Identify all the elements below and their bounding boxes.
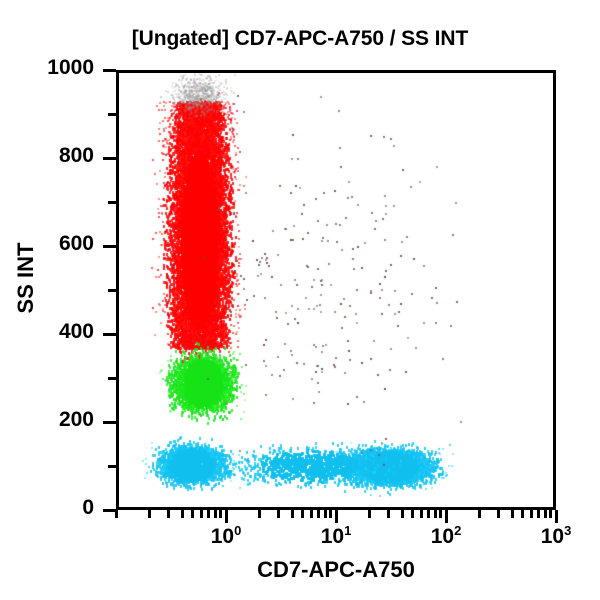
x-axis-tick-minor [219,510,222,518]
x-axis-tick-major [555,510,558,523]
x-axis-tick-minor [521,510,524,518]
x-axis-tick-minor [214,510,217,518]
page-title: [Ungated] CD7-APC-A750 / SS INT [0,27,600,51]
y-axis-tick-label: 1000 [0,56,94,80]
x-axis-tick-minor [537,510,540,518]
y-axis-tick-label: 800 [0,144,94,168]
plot-area[interactable] [116,70,556,510]
y-axis-tick-major [103,333,116,336]
x-axis-tick-major [335,510,338,523]
y-axis-tick-minor [108,465,116,468]
y-axis-tick-label: 200 [0,408,94,432]
x-axis-tick-minor [387,510,390,518]
x-axis-tick-label: 100 [211,525,242,549]
y-axis-tick-minor [108,289,116,292]
y-axis-tick-label: 400 [0,320,94,344]
x-axis-tick-minor [148,510,151,518]
scatter-canvas [119,73,553,507]
x-axis-tick-minor [439,510,442,518]
x-axis-tick-minor [207,510,210,518]
x-axis-title: CD7-APC-A750 [116,557,556,583]
x-axis-tick-minor [401,510,404,518]
y-axis-tick-major [103,157,116,160]
x-axis-tick-minor [511,510,514,518]
x-axis-tick-minor [544,510,547,518]
x-axis-tick-label: 102 [431,525,462,549]
x-axis-tick-minor [301,510,304,518]
x-axis-tick-minor [277,510,280,518]
y-axis-tick-label: 600 [0,232,94,256]
x-axis-tick-minor [411,510,414,518]
y-axis-tick-major [103,69,116,72]
x-axis-tick-minor [258,510,261,518]
x-axis-tick-minor [549,510,552,518]
x-axis-tick-minor [368,510,371,518]
x-axis-tick-minor [317,510,320,518]
x-axis-tick-minor [167,510,170,518]
x-axis-tick-minor [200,510,203,518]
x-axis-tick-label: 103 [541,525,572,549]
x-axis-tick-minor [181,510,184,518]
x-axis-tick-minor [497,510,500,518]
x-axis-tick-minor [324,510,327,518]
y-axis-tick-minor [108,201,116,204]
y-axis-tick-minor [108,377,116,380]
y-axis-tick-major [103,245,116,248]
y-axis-tick-minor [108,113,116,116]
x-axis-tick-minor [427,510,430,518]
y-axis-tick-label: 0 [0,496,94,520]
x-axis-tick-minor [420,510,423,518]
x-axis-tick-minor [310,510,313,518]
y-axis-tick-major [103,421,116,424]
x-axis-tick-minor [115,510,118,518]
x-axis-tick-minor [329,510,332,518]
x-axis-tick-minor [191,510,194,518]
x-axis-tick-minor [478,510,481,518]
x-axis-tick-major [445,510,448,523]
x-axis-tick-minor [530,510,533,518]
x-axis-tick-minor [434,510,437,518]
flow-cytometry-scatter-figure: [Ungated] CD7-APC-A750 / SS INT CD7-APC-… [0,0,600,600]
x-axis-tick-minor [291,510,294,518]
x-axis-tick-label: 101 [321,525,352,549]
x-axis-tick-major [225,510,228,523]
